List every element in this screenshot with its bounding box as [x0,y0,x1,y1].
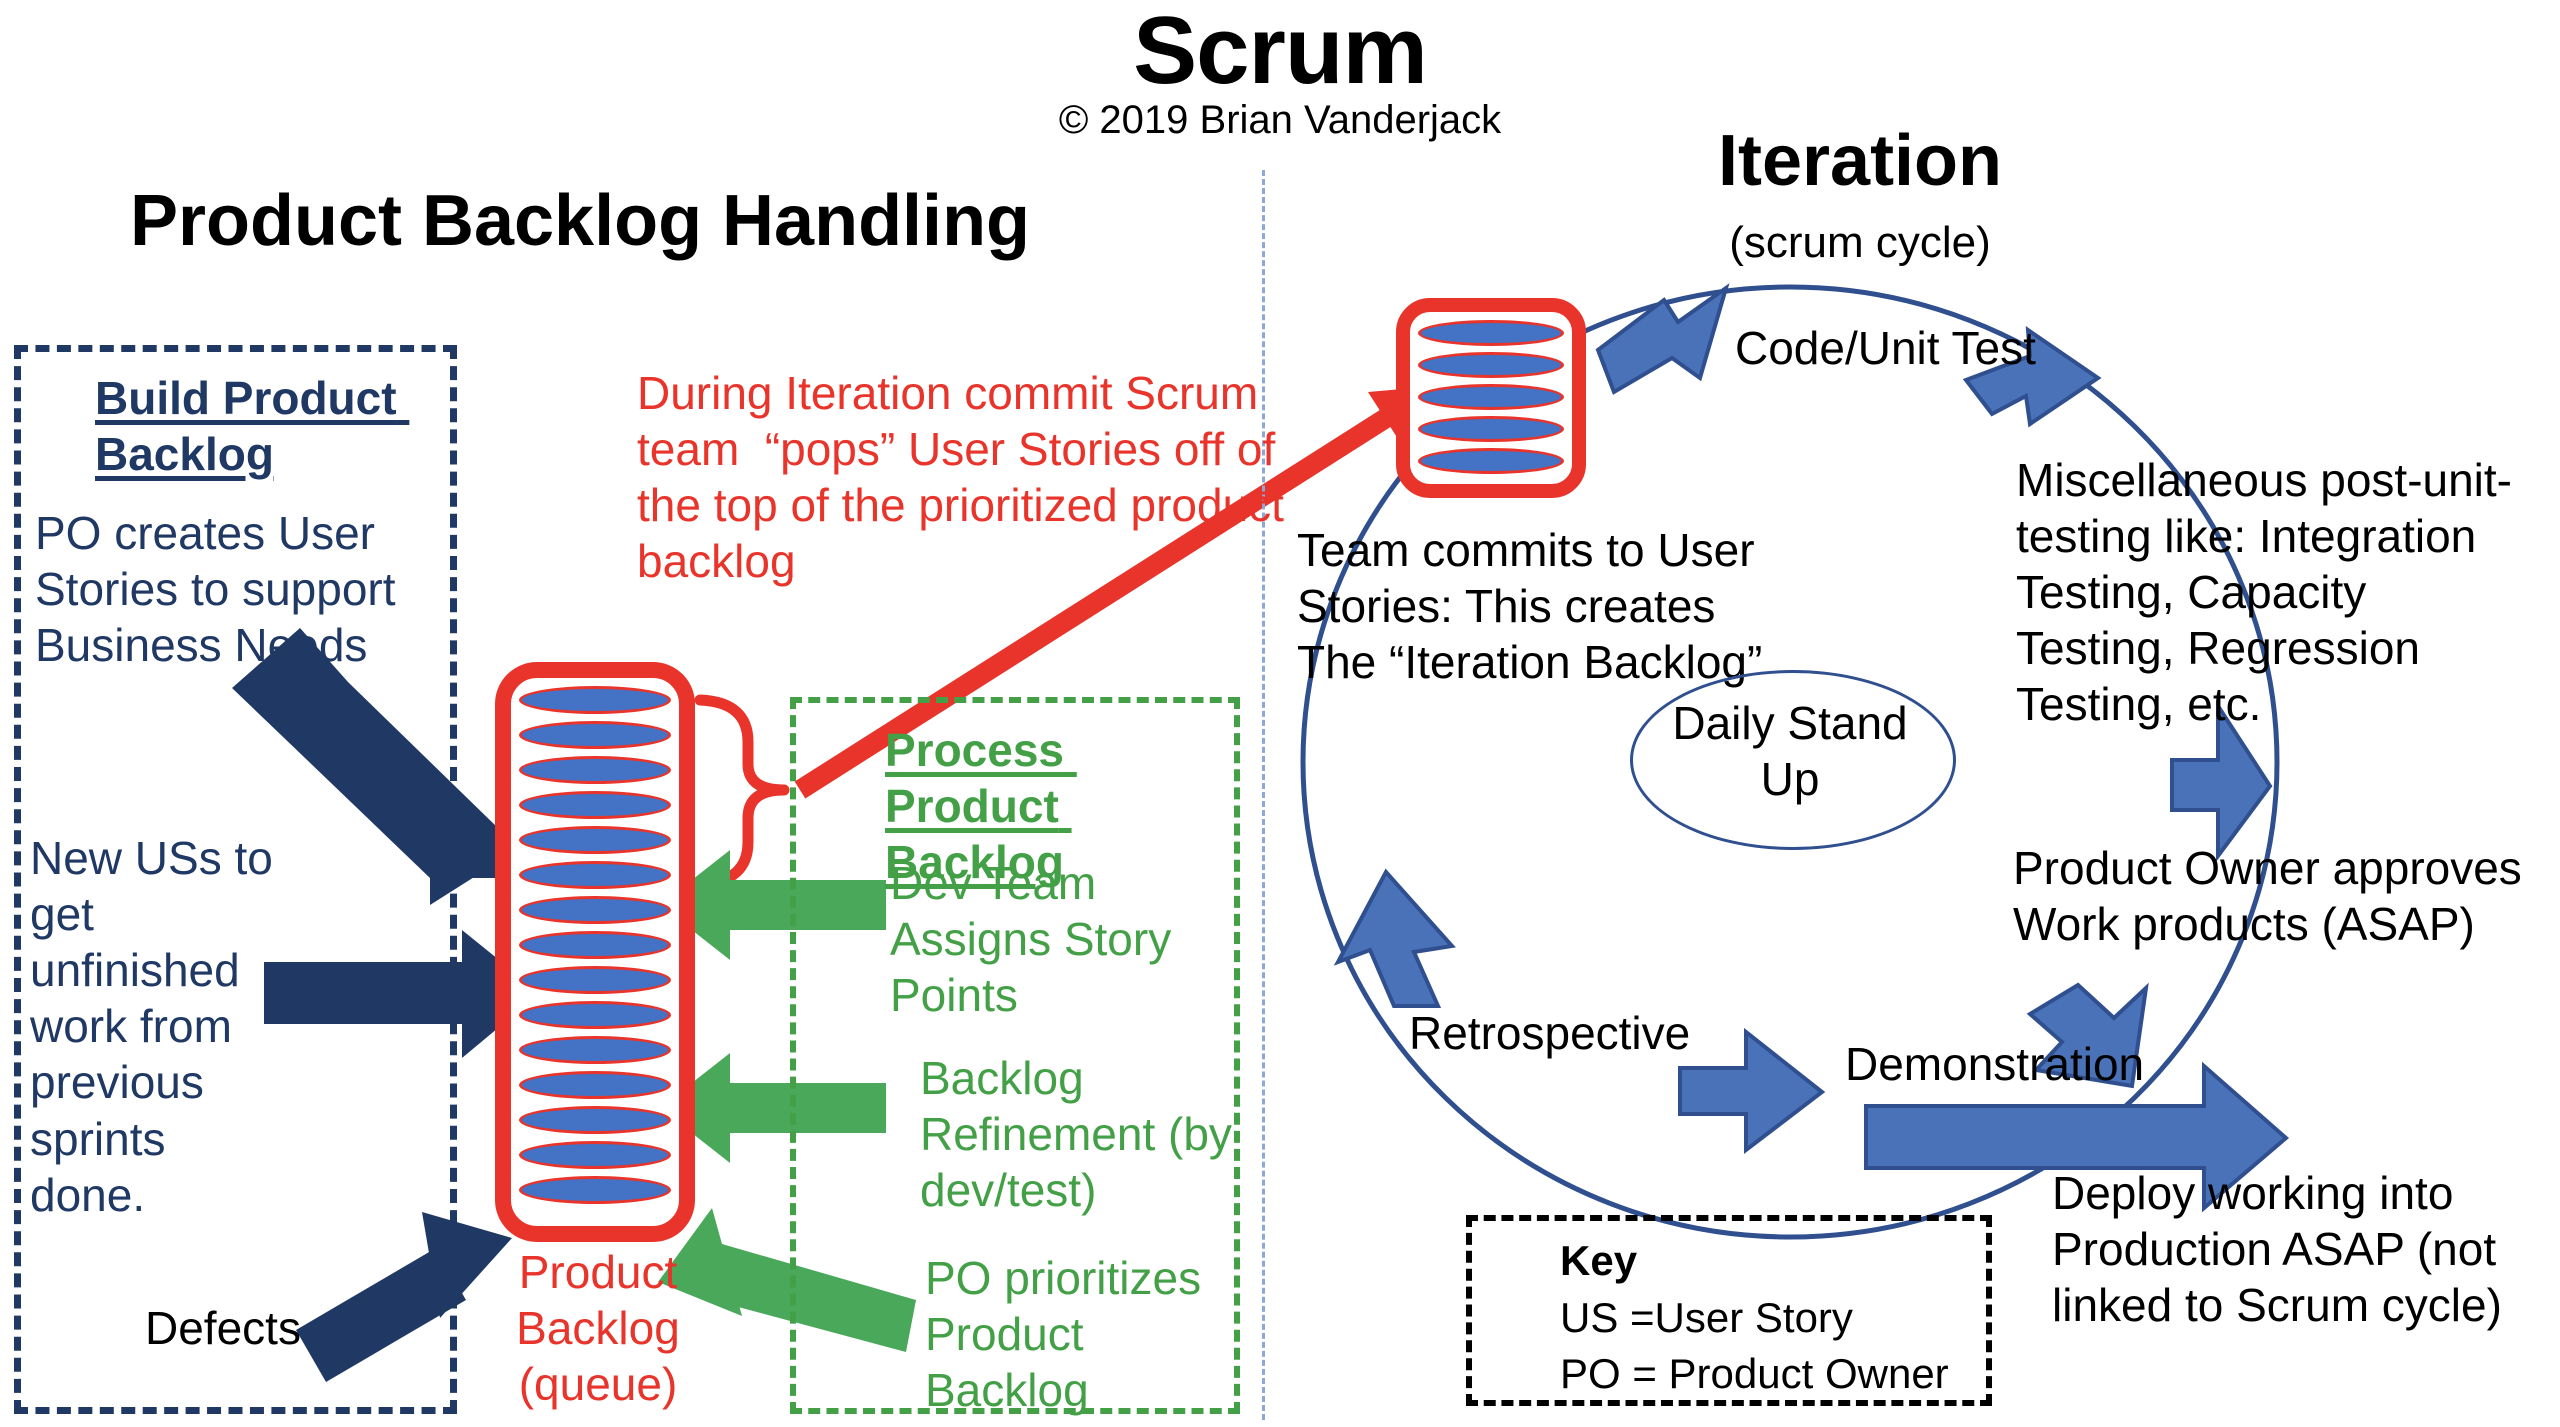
user-story-item [1418,320,1564,346]
pop-user-stories-note: During Iteration commit Scrum team “pops… [637,365,1297,589]
user-story-item [519,896,671,924]
panel-divider [1262,170,1265,1420]
user-story-item [1418,416,1564,442]
deploy-to-production-note: Deploy working into Production ASAP (not… [2052,1165,2532,1333]
cycle-step-misc-testing: Miscellaneous post-unit-testing like: In… [2016,452,2536,733]
new-user-stories-note: New USs to get unfinished work from prev… [30,830,290,1223]
backlog-top-brace [700,700,784,884]
team-commits-note: Team commits to User Stories: This creat… [1297,522,1797,690]
user-story-item [519,1001,671,1029]
product-backlog-label: Product Backlog (queue) [478,1244,718,1412]
key-title: Key [1560,1235,1637,1286]
process-item-dev-team-story-points: Dev Team Assigns Story Points [890,855,1230,1023]
left-panel-title: Product Backlog Handling [0,178,1160,266]
user-story-item [519,686,671,714]
user-story-item [1418,448,1564,474]
user-story-item [519,791,671,819]
right-panel-subtitle: (scrum cycle) [1500,216,2220,270]
user-story-item [519,1071,671,1099]
user-story-item [519,1141,671,1169]
cycle-step-demonstration: Demonstration [1845,1036,2144,1092]
daily-standup-label: Daily Stand Up [1655,695,1925,807]
user-story-item [519,1036,671,1064]
page-title: Scrum [0,0,2560,109]
user-story-item [519,861,671,889]
user-story-item [519,1176,671,1204]
user-story-item [519,1106,671,1134]
scrum-diagram-canvas: .navyfill{fill:#1F3864;} .greenfill{fill… [0,0,2560,1427]
process-item-backlog-refinement: Backlog Refinement (by dev/test) [920,1050,1240,1218]
process-item-po-prioritizes: PO prioritizes Product Backlog [925,1250,1235,1418]
user-story-item [1418,384,1564,410]
user-story-item [519,721,671,749]
defects-label: Defects [145,1300,301,1356]
key-line-po: PO = Product Owner [1560,1348,1949,1399]
user-story-item [519,966,671,994]
product-backlog-items [519,686,671,1218]
cycle-step-retrospective: Retrospective [1409,1005,1690,1061]
iteration-backlog-items [1418,320,1564,476]
key-line-us: US =User Story [1560,1292,1853,1343]
build-product-backlog-body: PO creates User Stories to support Busin… [35,505,435,673]
user-story-item [519,826,671,854]
arrow-cycle-to-retrospective [1680,1032,1822,1150]
cycle-step-code-unit-test: Code/Unit Test [1735,320,2036,376]
right-panel-title: Iteration [1500,118,2220,206]
arrow-cycle-to-code-unit-test [1598,288,1726,392]
user-story-item [519,931,671,959]
user-story-item [519,756,671,784]
cycle-step-po-approves: Product Owner approves Work products (AS… [2013,840,2543,952]
arrow-cycle-back-to-iteration-backlog [1338,872,1452,1006]
build-product-backlog-heading: Build Product Backlog [95,370,455,482]
user-story-item [1418,352,1564,378]
